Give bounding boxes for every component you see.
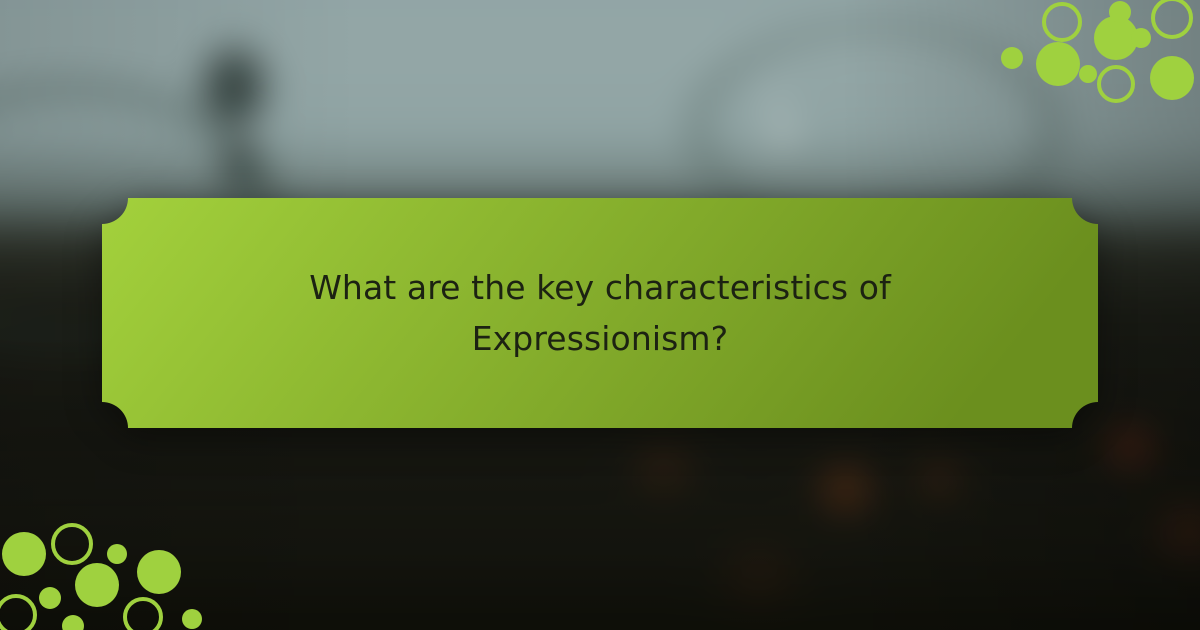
question-headline: What are the key characteristics of Expr… [290,262,910,364]
banner-canvas: What are the key characteristics of Expr… [0,0,1200,630]
question-card: What are the key characteristics of Expr… [102,198,1098,428]
question-card-text: What are the key characteristics of Expr… [102,198,1098,428]
